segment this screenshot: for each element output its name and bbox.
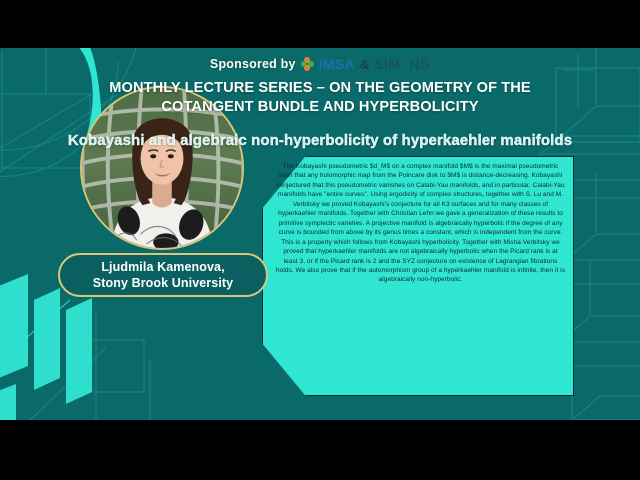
simons-left: SIM [374,56,400,72]
abstract-panel: The Kobayashi pseudometric $d_M$ on a co… [262,156,574,396]
lecture-series-title: MONTHLY LECTURE SERIES – ON THE GEOMETRY… [0,79,640,116]
sponsor-row: Sponsored by IMSA & SIMNS [0,56,640,72]
presentation-slide: Sponsored by IMSA & SIMNS MONTHLY LECTUR… [0,0,640,480]
abstract-text: The Kobayashi pseudometric $d_M$ on a co… [276,162,565,392]
imsa-wordmark: IMSA [319,56,355,72]
imsa-logo-icon [301,58,314,71]
speaker-affiliation: Stony Brook University [93,275,233,291]
speaker-name: Ljudmila Kamenova, [101,259,224,275]
speaker-nameplate: Ljudmila Kamenova, Stony Brook Universit… [58,253,268,297]
series-title-line-1: MONTHLY LECTURE SERIES – ON THE GEOMETRY… [0,79,640,98]
sponsor-separator: & [360,57,369,72]
sponsored-by-label: Sponsored by [210,57,296,71]
simons-wordmark: SIMNS [374,56,430,72]
talk-title: Kobayashi and algebraic non-hyperbolicit… [0,132,640,149]
slide-content-stage: Sponsored by IMSA & SIMNS MONTHLY LECTUR… [0,48,640,420]
simons-right: NS [410,56,430,72]
series-title-line-2: COTANGENT BUNDLE AND HYPERBOLICITY [0,98,640,117]
